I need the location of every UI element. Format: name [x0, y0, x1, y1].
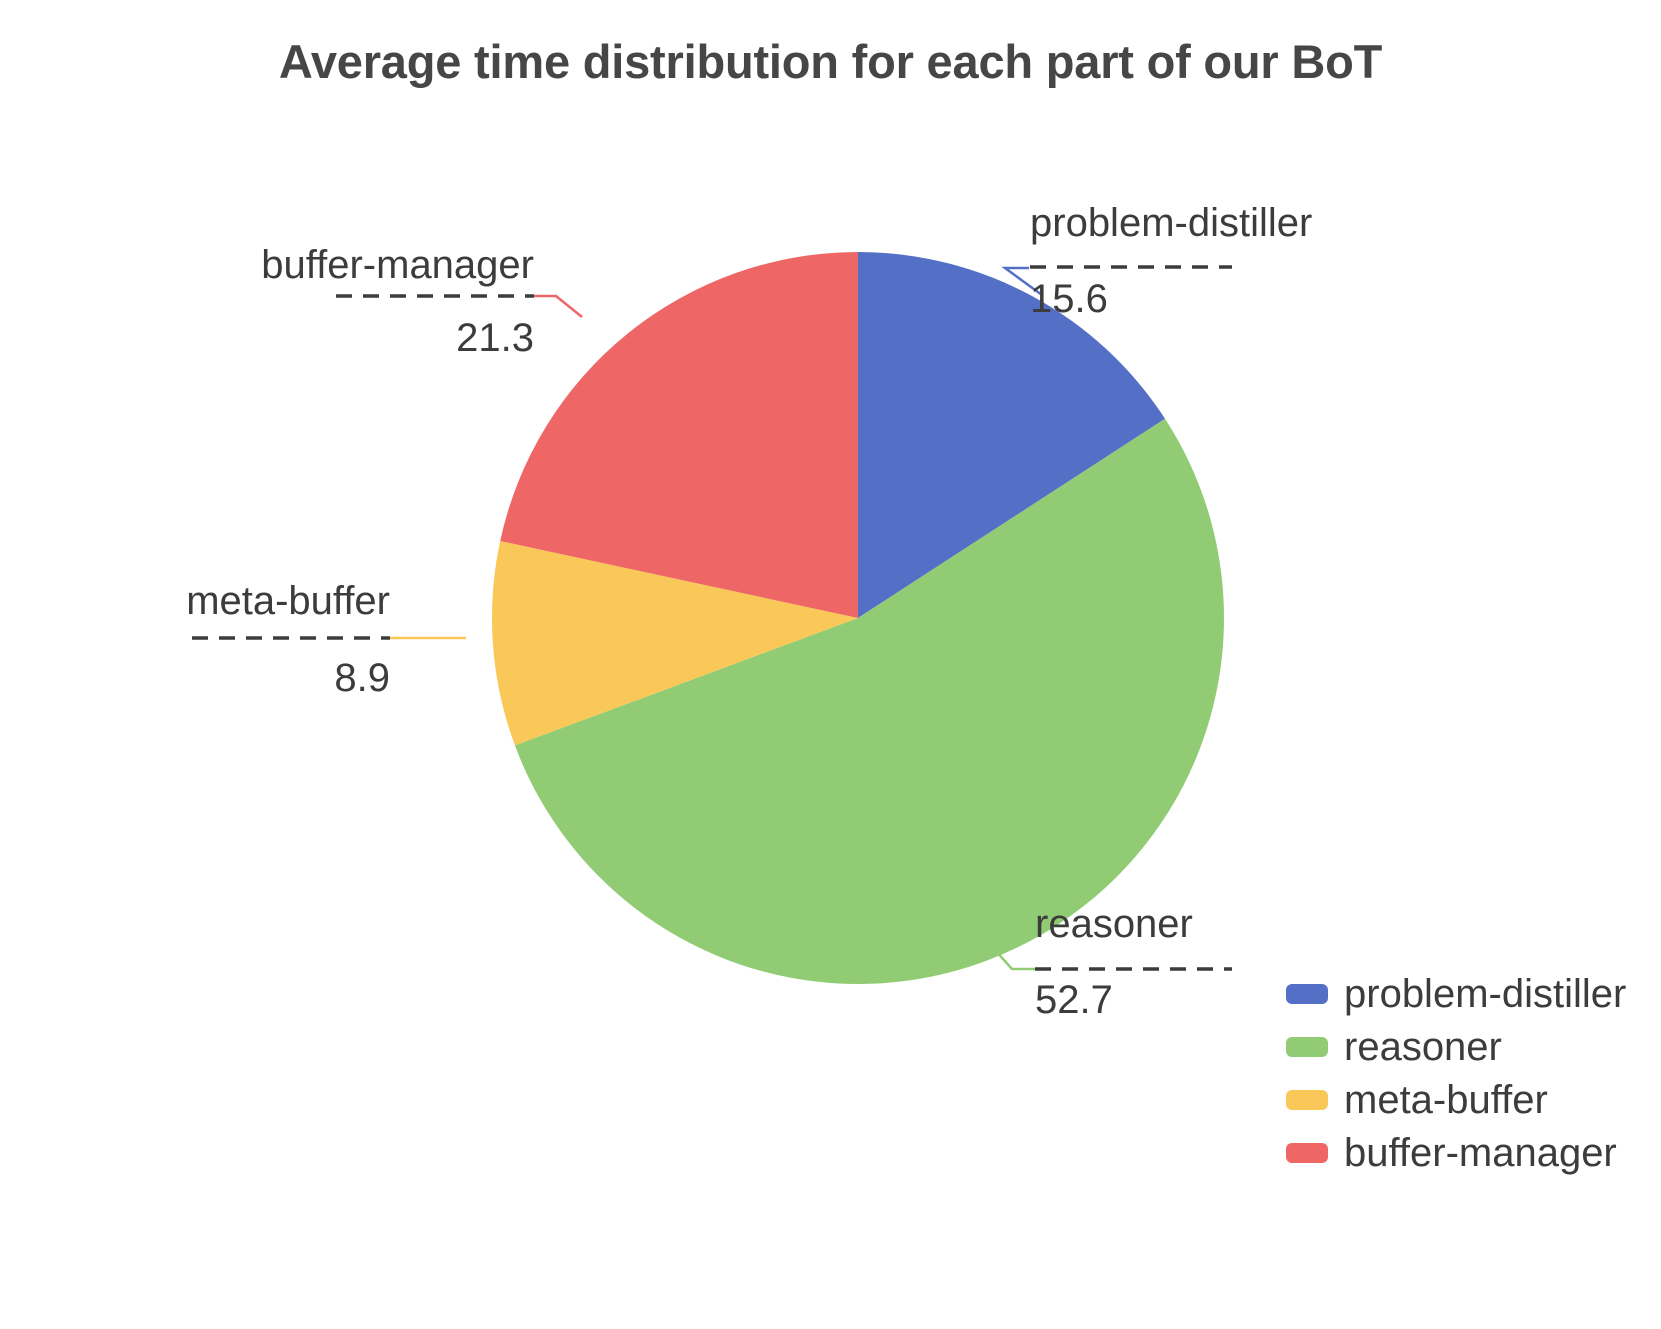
slice-value-meta-buffer: 8.9: [334, 656, 390, 700]
legend-item-buffer-manager[interactable]: buffer-manager: [1286, 1132, 1626, 1174]
legend-item-meta-buffer[interactable]: meta-buffer: [1286, 1079, 1626, 1121]
chart-legend: problem-distiller reasoner meta-buffer b…: [1286, 973, 1626, 1174]
slice-label-meta-buffer: meta-buffer: [186, 579, 390, 623]
slice-label-buffer-manager: buffer-manager: [261, 243, 534, 287]
legend-label-meta-buffer: meta-buffer: [1344, 1080, 1548, 1120]
legend-label-reasoner: reasoner: [1344, 1027, 1502, 1067]
leader-line-buffer-manager: [533, 296, 582, 317]
legend-swatch-reasoner: [1286, 1037, 1328, 1057]
slice-label-reasoner: reasoner: [1035, 902, 1193, 946]
slice-value-problem-distiller: 15.6: [1030, 277, 1108, 321]
legend-label-problem-distiller: problem-distiller: [1344, 974, 1626, 1014]
legend-swatch-meta-buffer: [1286, 1090, 1328, 1110]
legend-item-problem-distiller[interactable]: problem-distiller: [1286, 973, 1626, 1015]
slice-value-reasoner: 52.7: [1035, 978, 1113, 1022]
pie-chart-figure: Average time distribution for each part …: [0, 0, 1661, 1329]
slice-value-buffer-manager: 21.3: [456, 316, 534, 360]
pie-slices: [492, 252, 1224, 984]
legend-swatch-problem-distiller: [1286, 984, 1328, 1004]
legend-item-reasoner[interactable]: reasoner: [1286, 1026, 1626, 1068]
legend-label-buffer-manager: buffer-manager: [1344, 1133, 1617, 1173]
slice-label-problem-distiller: problem-distiller: [1030, 201, 1312, 245]
legend-swatch-buffer-manager: [1286, 1143, 1328, 1163]
